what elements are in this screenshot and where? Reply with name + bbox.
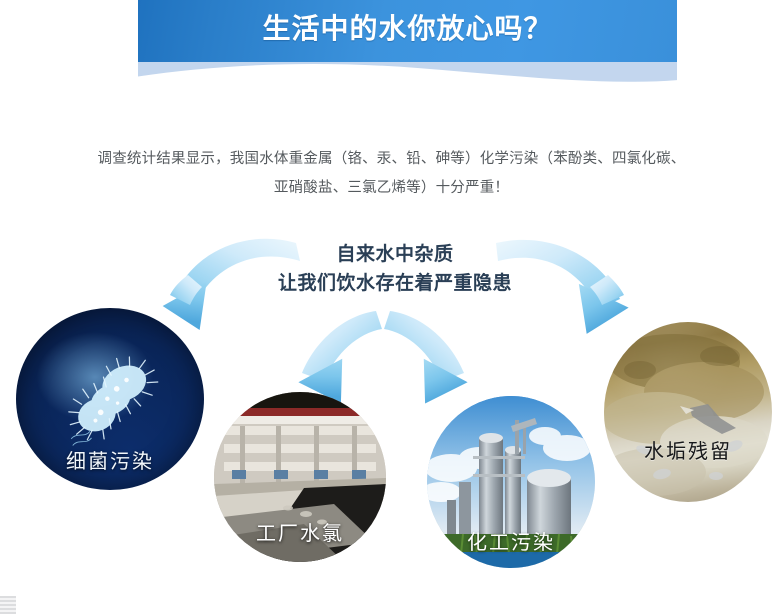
circle-label: 细菌污染	[16, 445, 204, 474]
bacteria-icon	[45, 337, 182, 460]
intro-line-2: 亚硝酸盐、三氯乙烯等）十分严重！	[78, 174, 705, 203]
circle-label: 水垢残留	[604, 435, 772, 464]
headline-line-2: 让我们饮水存在着严重隐患	[235, 269, 555, 298]
banner-wave-white	[138, 58, 677, 107]
page-root: 生活中的水你放心吗？ 调查统计结果显示，我国水体重金属（铬、汞、铅、砷等）化学污…	[0, 0, 783, 616]
intro-paragraph: 调查统计结果显示，我国水体重金属（铬、汞、铅、砷等）化学污染（苯酚类、四氯化碳、…	[78, 145, 705, 203]
limescale-icon	[604, 322, 772, 502]
page-title: 生活中的水你放心吗？	[138, 11, 677, 47]
circle-label: 工厂水氯	[214, 517, 386, 546]
headline-line-1: 自来水中杂质	[235, 240, 555, 269]
circle-bacteria-contamination[interactable]: 细菌污染	[16, 308, 204, 490]
arrow-to-chemical-icon	[384, 311, 470, 404]
intro-line-1: 调查统计结果显示，我国水体重金属（铬、汞、铅、砷等）化学污染（苯酚类、四氯化碳、	[78, 145, 705, 174]
circle-chemical-pollution[interactable]: 化工污染	[427, 396, 595, 568]
circle-limescale-residue[interactable]: 水垢残留	[604, 322, 772, 502]
circle-plant-chlorine[interactable]: 工厂水氯	[214, 392, 386, 562]
center-headline: 自来水中杂质 让我们饮水存在着严重隐患	[235, 240, 555, 298]
arrow-to-plant-chlorine-icon	[296, 311, 382, 404]
corner-artifact	[0, 596, 16, 614]
circle-label: 化工污染	[427, 526, 595, 555]
header-banner: 生活中的水你放心吗？	[138, 0, 677, 107]
